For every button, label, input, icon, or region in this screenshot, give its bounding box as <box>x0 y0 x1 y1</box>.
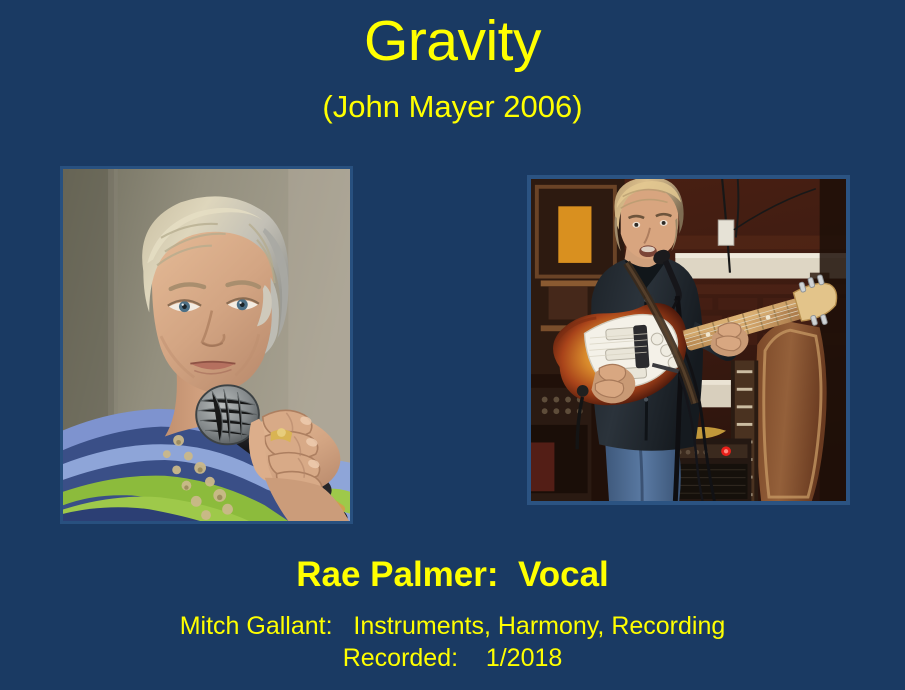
photo-vocalist <box>60 166 353 524</box>
credit-secondary-line-1: Mitch Gallant: Instruments, Harmony, Rec… <box>0 611 905 642</box>
presentation-slide: Gravity (John Mayer 2006) <box>0 0 905 690</box>
slide-title: Gravity <box>0 8 905 74</box>
credit-primary: Rae Palmer: Vocal <box>0 553 905 597</box>
slide-subtitle: (John Mayer 2006) <box>0 88 905 126</box>
photo-vocalist-image <box>63 169 350 521</box>
photo-guitarist-image <box>531 179 846 501</box>
photo-guitarist <box>527 175 850 505</box>
credit-secondary-line-2: Recorded: 1/2018 <box>0 643 905 674</box>
